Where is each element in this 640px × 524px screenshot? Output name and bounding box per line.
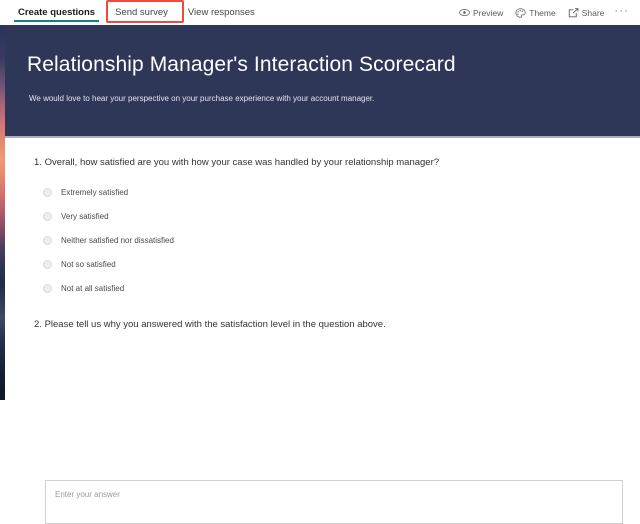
question-2-text: 2. Please tell us why you answered with … xyxy=(34,319,386,330)
survey-subtitle: We would love to hear your perspective o… xyxy=(29,94,374,103)
more-options-button[interactable]: ··· xyxy=(610,6,636,17)
question-1: 1. Overall, how satisfied are you with h… xyxy=(34,157,439,300)
question-2-answer-input[interactable]: Enter your answer xyxy=(45,480,623,524)
question-2-label: Please tell us why you answered with the… xyxy=(45,319,386,330)
tab-send-survey-label: Send survey xyxy=(115,7,168,18)
tab-create-questions[interactable]: Create questions xyxy=(8,0,105,25)
option-neither-satisfied-nor-dissatisfied[interactable]: Neither satisfied nor dissatisfied xyxy=(34,228,439,252)
survey-banner xyxy=(5,25,640,136)
question-1-options: Extremely satisfied Very satisfied Neith… xyxy=(34,180,439,300)
eye-icon xyxy=(459,8,470,17)
top-tab-bar: Create questions Send survey View respon… xyxy=(0,0,640,26)
option-label: Not so satisfied xyxy=(61,260,116,269)
palette-icon xyxy=(515,8,526,18)
option-label: Extremely satisfied xyxy=(61,188,128,197)
tab-view-responses-label: View responses xyxy=(188,7,255,18)
preview-label: Preview xyxy=(473,8,503,18)
option-label: Very satisfied xyxy=(61,212,109,221)
option-very-satisfied[interactable]: Very satisfied xyxy=(34,204,439,228)
option-label: Neither satisfied nor dissatisfied xyxy=(61,236,174,245)
tab-send-survey[interactable]: Send survey xyxy=(105,0,178,25)
tab-list: Create questions Send survey View respon… xyxy=(0,0,265,25)
tab-view-responses[interactable]: View responses xyxy=(178,0,265,25)
question-2-number: 2. xyxy=(34,319,42,330)
tab-create-questions-label: Create questions xyxy=(18,7,95,18)
question-1-label: Overall, how satisfied are you with how … xyxy=(45,157,439,168)
question-1-text: 1. Overall, how satisfied are you with h… xyxy=(34,157,439,168)
option-label: Not at all satisfied xyxy=(61,284,124,293)
share-icon xyxy=(568,8,579,18)
answer-placeholder: Enter your answer xyxy=(55,490,120,499)
preview-button[interactable]: Preview xyxy=(453,3,509,23)
option-not-at-all-satisfied[interactable]: Not at all satisfied xyxy=(34,276,439,300)
radio-icon[interactable] xyxy=(43,236,52,245)
radio-icon[interactable] xyxy=(43,260,52,269)
radio-icon[interactable] xyxy=(43,188,52,197)
theme-button[interactable]: Theme xyxy=(509,3,561,23)
question-2: 2. Please tell us why you answered with … xyxy=(34,319,386,330)
radio-icon[interactable] xyxy=(43,212,52,221)
theme-label: Theme xyxy=(529,8,555,18)
command-bar: Preview Theme xyxy=(453,0,636,25)
forms-survey-editor: Create questions Send survey View respon… xyxy=(0,0,640,400)
share-button[interactable]: Share xyxy=(562,3,611,23)
survey-title: Relationship Manager's Interaction Score… xyxy=(27,53,456,77)
share-label: Share xyxy=(582,8,605,18)
option-not-so-satisfied[interactable]: Not so satisfied xyxy=(34,252,439,276)
question-1-number: 1. xyxy=(34,157,42,168)
radio-icon[interactable] xyxy=(43,284,52,293)
option-extremely-satisfied[interactable]: Extremely satisfied xyxy=(34,180,439,204)
survey-form-body: 1. Overall, how satisfied are you with h… xyxy=(5,138,640,400)
